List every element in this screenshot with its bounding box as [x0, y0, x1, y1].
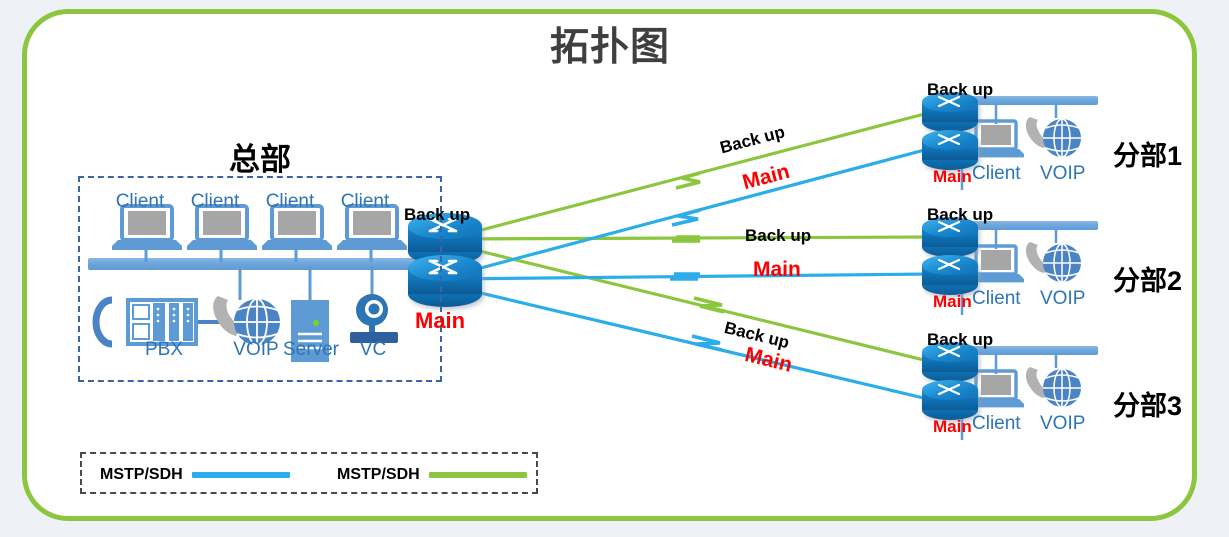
- branch3-router-main-label: Main: [933, 417, 972, 437]
- link-label-main-branch2: Main: [753, 258, 801, 282]
- branch2-voip-label: VOIP: [1040, 289, 1084, 308]
- page-title: 拓扑图: [500, 16, 720, 72]
- branch3-client-label: Client: [972, 414, 1020, 433]
- legend-line-mstp-sdh-green: [429, 472, 527, 478]
- hq-client-label-3: Client: [262, 192, 318, 211]
- branch1-router-main-label: Main: [933, 167, 972, 187]
- hq-device-label-vc: VC: [349, 340, 397, 359]
- legend-box: MSTP/SDH MSTP/SDH: [80, 452, 538, 494]
- hq-router-backup-label: Back up: [404, 205, 470, 225]
- topology-diagram-canvas: 拓扑图: [0, 0, 1229, 537]
- branch1-name: 分部1: [1113, 134, 1182, 173]
- hq-device-label-voip: VOIP: [229, 340, 283, 359]
- branch2-router-backup-label: Back up: [927, 205, 993, 225]
- legend-line-mstp-sdh-blue: [192, 472, 290, 478]
- branch2-client-label: Client: [972, 289, 1020, 308]
- legend-label-2: MSTP/SDH: [337, 466, 420, 484]
- hq-title: 总部: [180, 134, 340, 179]
- branch3-router-backup-label: Back up: [927, 330, 993, 350]
- link-label-backup-branch2: Back up: [745, 226, 811, 246]
- branch1-voip-label: VOIP: [1040, 164, 1084, 183]
- branch3-name: 分部3: [1113, 384, 1182, 423]
- branch1-client-label: Client: [972, 164, 1020, 183]
- legend-label-1: MSTP/SDH: [100, 466, 183, 484]
- hq-device-label-server: Server: [283, 340, 337, 359]
- branch3-voip-label: VOIP: [1040, 414, 1084, 433]
- hq-client-label-1: Client: [112, 192, 168, 211]
- hq-client-label-2: Client: [187, 192, 243, 211]
- branch1-router-backup-label: Back up: [927, 80, 993, 100]
- hq-device-label-pbx: PBX: [134, 340, 194, 359]
- hq-client-label-4: Client: [337, 192, 393, 211]
- branch2-router-main-label: Main: [933, 292, 972, 312]
- branch2-name: 分部2: [1113, 259, 1182, 298]
- hq-router-main-label: Main: [415, 308, 465, 334]
